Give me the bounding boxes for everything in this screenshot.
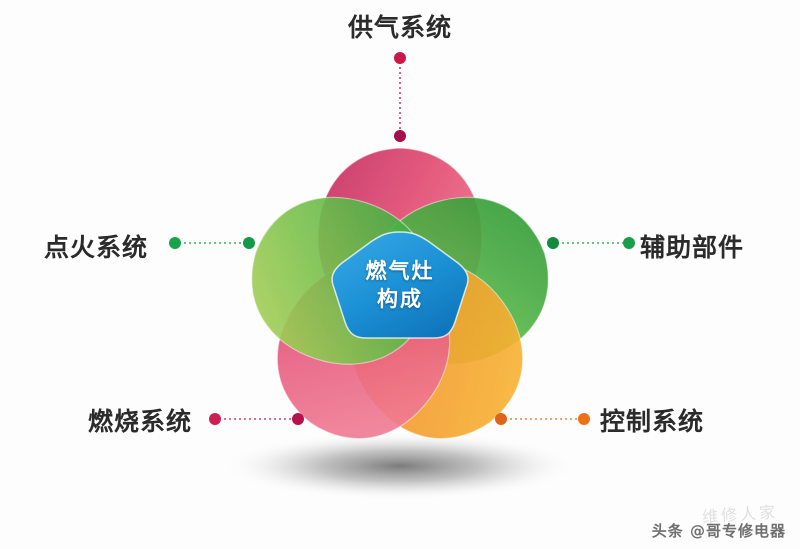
connector-control [495,413,590,425]
connector-supply [394,52,406,142]
connector-ignition [169,237,255,249]
connector-burning [209,413,304,425]
diagram-canvas: 供气系统 辅助部件 控制系统 燃烧系统 点火系统 燃气灶 构成 维修人家 头条 … [0,0,800,549]
petal-label-control[interactable]: 控制系统 [600,402,704,438]
connector-auxiliary [547,237,635,249]
petal-diagram-graphic [0,0,800,549]
petal-label-auxiliary[interactable]: 辅助部件 [640,228,744,264]
petal-label-burning[interactable]: 燃烧系统 [88,402,192,438]
drop-shadow [222,432,578,500]
petal-label-ignition[interactable]: 点火系统 [44,228,148,264]
watermark-text: 头条 @哥专修电器 [652,520,786,541]
petal-label-supply[interactable]: 供气系统 [0,8,800,44]
